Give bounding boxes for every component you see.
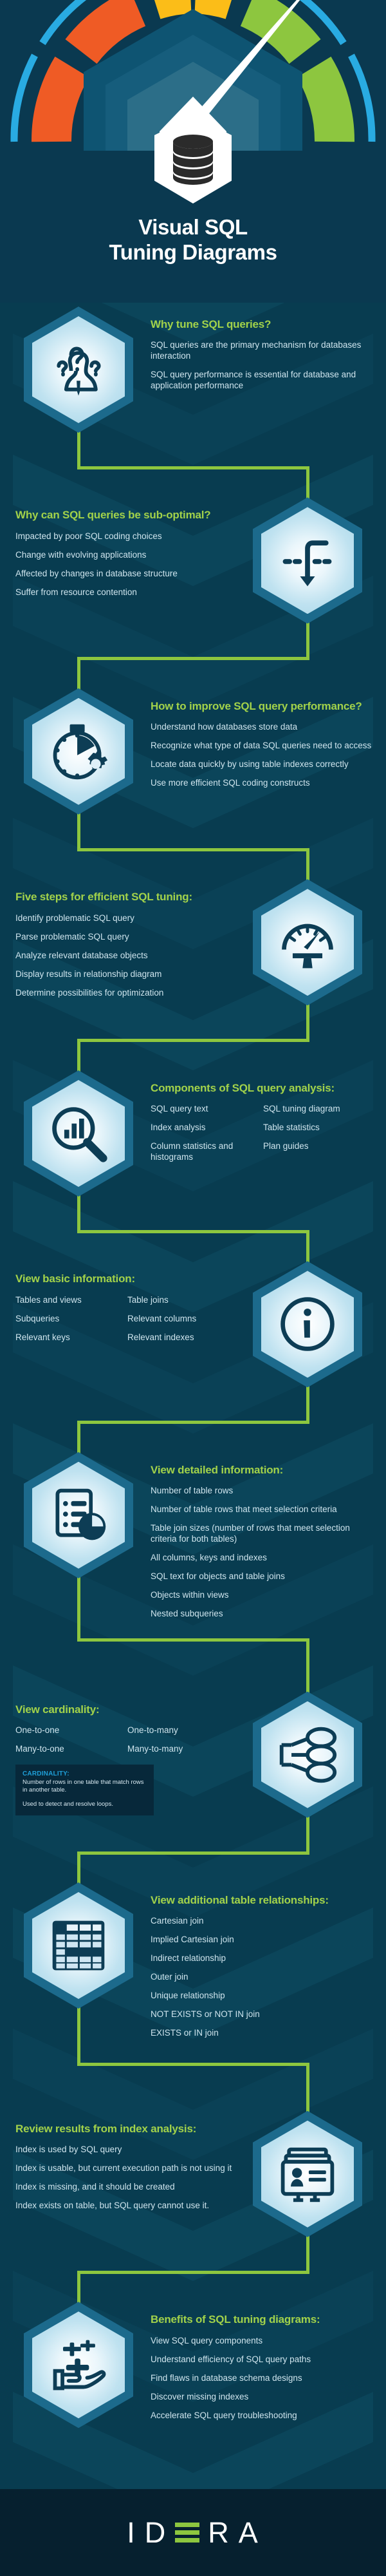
logo-letter-i: I (127, 2516, 136, 2550)
section-bullet-list: View SQL query componentsUnderstand effi… (151, 2335, 372, 2421)
flow-connector-segment (306, 2235, 309, 2273)
bullet-item: SQL query text (151, 1103, 259, 1114)
section-heading: View additional table relationships: (151, 1894, 372, 1907)
callout-title: CARDINALITY: (23, 1770, 147, 1777)
flow-connector-segment (77, 1851, 309, 1855)
bullet-item: SQL text for objects and table joins (151, 1571, 372, 1582)
bullet-item: Column statistics and histograms (151, 1141, 259, 1162)
section-heading: View basic information: (15, 1273, 235, 1285)
flow-connector-segment (77, 1230, 309, 1233)
bullet-item: Determine possibilities for optimization (15, 987, 235, 998)
section-text-container: Review results from index analysis:Index… (14, 2107, 235, 2219)
bullet-item: Analyze relevant database objects (15, 950, 235, 961)
section-five-steps: Five steps for efficient SQL tuning:Iden… (0, 875, 386, 1005)
checklist-pie-chart-icon (24, 1452, 133, 1578)
bullet-item: Indirect relationship (151, 1953, 372, 1964)
bullet-item: View SQL query components (151, 2335, 372, 2346)
bullet-item: Tables and views (15, 1294, 124, 1305)
section-text-container: View cardinality:One-to-oneOne-to-manyMa… (14, 1688, 235, 1815)
section-basic-info: View basic information:Tables and viewsT… (0, 1257, 386, 1387)
bullet-item: SQL tuning diagram (263, 1103, 372, 1114)
flow-connector-segment (77, 1421, 309, 1424)
bullet-item: SQL queries are the primary mechanism fo… (151, 339, 372, 361)
bullet-item: Impacted by poor SQL coding choices (15, 531, 235, 542)
info-circle-icon (253, 1261, 362, 1387)
section-icon-container (14, 1448, 143, 1578)
callout-body-1: Number of rows in one table that match r… (23, 1779, 147, 1795)
magnifier-bar-chart-icon (24, 1070, 133, 1197)
bullet-item: Accelerate SQL query troubleshooting (151, 2410, 372, 2421)
bullet-item: Locate data quickly by using table index… (151, 759, 372, 770)
flow-connector-segment (306, 1385, 309, 1423)
bullet-item: Affected by changes in database structur… (15, 568, 235, 579)
section-text-container: View basic information:Tables and viewsT… (14, 1257, 235, 1350)
bullet-item: Cartesian join (151, 1915, 372, 1926)
bullet-item: Outer join (151, 1971, 372, 1982)
section-heading: Why tune SQL queries? (151, 318, 372, 331)
bullet-item: Index is usable, but current execution p… (15, 2163, 235, 2173)
section-how-improve: How to improve SQL query performance?Und… (0, 685, 386, 815)
bullet-item: Objects within views (151, 1589, 372, 1600)
section-bullet-list: Tables and viewsTable joinsSubqueriesRel… (15, 1294, 235, 1350)
data-table-grid-icon (24, 1882, 133, 2009)
bullet-item: Relevant columns (127, 1313, 235, 1324)
section-icon-container (14, 685, 143, 815)
page-title: Visual SQL Tuning Diagrams (0, 215, 386, 265)
flow-connector-segment (306, 1003, 309, 1041)
section-text-container: Components of SQL query analysis:SQL que… (151, 1066, 372, 1170)
page-title-line1: Visual SQL (0, 215, 386, 240)
callout-body-2: Used to detect and resolve loops. (23, 1801, 147, 1808)
section-text-container: How to improve SQL query performance?Und… (151, 685, 372, 796)
bullet-item: All columns, keys and indexes (151, 1552, 372, 1563)
hand-plus-benefits-icon (24, 2302, 133, 2428)
flow-connector-segment (77, 466, 309, 469)
section-text-container: Why can SQL queries be sub-optimal?Impac… (14, 493, 235, 605)
section-heading: Five steps for efficient SQL tuning: (15, 891, 235, 904)
section-heading: View cardinality: (15, 1703, 235, 1716)
section-cardinality: View cardinality:One-to-oneOne-to-manyMa… (0, 1688, 386, 1818)
section-heading: Review results from index analysis: (15, 2123, 235, 2136)
bullet-item: Table join sizes (number of rows that me… (151, 1522, 372, 1544)
idera-logo: I D R A (127, 2516, 259, 2550)
confused-person-question-marks-icon (24, 307, 133, 433)
section-detailed-info: View detailed information:Number of tabl… (0, 1448, 386, 1627)
bullet-item: Number of table rows (151, 1485, 372, 1496)
section-why-tune: Why tune SQL queries?SQL queries are the… (0, 303, 386, 433)
section-text-container: Five steps for efficient SQL tuning:Iden… (14, 875, 235, 1005)
section-icon-container (243, 1688, 372, 1818)
bullet-item: Index exists on table, but SQL query can… (15, 2200, 235, 2211)
section-benefits: Benefits of SQL tuning diagrams:View SQL… (0, 2298, 386, 2428)
section-icon-container (14, 303, 143, 433)
bullet-item: Relevant keys (15, 1332, 124, 1343)
footer: I D R A (0, 2489, 386, 2576)
bullet-item: Discover missing indexes (151, 2391, 372, 2402)
bullet-item: Understand efficiency of SQL query paths (151, 2354, 372, 2365)
bullet-item: Display results in relationship diagram (15, 969, 235, 980)
section-bullet-list: SQL query textSQL tuning diagramIndex an… (151, 1103, 372, 1170)
section-heading: Why can SQL queries be sub-optimal? (15, 509, 235, 522)
flow-connector-segment (77, 1039, 309, 1042)
flow-connector-segment (77, 430, 80, 468)
bullet-item: One-to-one (15, 1725, 124, 1736)
section-text-container: View detailed information:Number of tabl… (151, 1448, 372, 1627)
bullet-item: Find flaws in database schema designs (151, 2372, 372, 2383)
flow-connector-segment (77, 1638, 309, 1642)
bullet-item: Understand how databases store data (151, 721, 372, 732)
section-sub-optimal: Why can SQL queries be sub-optimal?Impac… (0, 493, 386, 623)
bullet-item: Relevant indexes (127, 1332, 235, 1343)
section-icon-container (14, 1879, 143, 2009)
section-components: Components of SQL query analysis:SQL que… (0, 1066, 386, 1197)
logo-letter-r: R (208, 2516, 230, 2550)
bullet-item: EXISTS or IN join (151, 2027, 372, 2038)
bullet-item: Index is used by SQL query (15, 2144, 235, 2155)
section-bullet-list: Cartesian joinImplied Cartesian joinIndi… (151, 1915, 372, 2038)
section-bullet-list: Identify problematic SQL queryParse prob… (15, 913, 235, 998)
bullet-item: Identify problematic SQL query (15, 913, 235, 923)
bullet-item: One-to-many (127, 1725, 235, 1736)
section-bullet-list: Impacted by poor SQL coding choicesChang… (15, 531, 235, 598)
section-bullet-list: Index is used by SQL queryIndex is usabl… (15, 2144, 235, 2211)
stopwatch-gear-icon (24, 688, 133, 815)
bullet-item: Nested subqueries (151, 1608, 372, 1619)
section-icon-container (243, 2107, 372, 2237)
flow-connector-segment (306, 1638, 309, 1692)
id-card-index-icon (253, 2111, 362, 2237)
section-bullet-list: Understand how databases store dataRecog… (151, 721, 372, 788)
bullet-item: SQL query performance is essential for d… (151, 369, 372, 391)
section-icon-container (14, 2298, 143, 2428)
section-text-container: Benefits of SQL tuning diagrams:View SQL… (151, 2298, 372, 2428)
flow-connector-segment (77, 2271, 309, 2274)
cardinality-callout: CARDINALITY:Number of rows in one table … (15, 1765, 154, 1815)
section-heading: How to improve SQL query performance? (151, 700, 372, 713)
logo-letter-a: A (239, 2516, 259, 2550)
page-title-line2: Tuning Diagrams (0, 240, 386, 265)
section-index-analysis: Review results from index analysis:Index… (0, 2107, 386, 2237)
logo-letter-d: D (145, 2516, 167, 2550)
flow-connector-segment (306, 621, 309, 659)
bullet-item: Suffer from resource contention (15, 587, 235, 598)
bullet-item: Many-to-one (15, 1743, 124, 1754)
bullet-item: Subqueries (15, 1313, 124, 1324)
bullet-item: Index analysis (151, 1122, 259, 1133)
bullet-item: Implied Cartesian join (151, 1934, 372, 1945)
flow-connector-segment (77, 812, 80, 850)
relationship-tree-icon (253, 1692, 362, 1818)
section-heading: View detailed information: (151, 1464, 372, 1477)
bullet-item: Unique relationship (151, 1990, 372, 2001)
bullet-item: Table statistics (263, 1122, 372, 1133)
bullet-item: NOT EXISTS or NOT IN join (151, 2009, 372, 2020)
bullet-item: Recognize what type of data SQL queries … (151, 740, 372, 751)
section-table-relationships: View additional table relationships:Cart… (0, 1879, 386, 2046)
section-icon-container (243, 875, 372, 1005)
bullet-item: Parse problematic SQL query (15, 931, 235, 942)
bullet-item: Change with evolving applications (15, 549, 235, 560)
flow-connector-segment (306, 1815, 309, 1853)
section-bullet-list: SQL queries are the primary mechanism fo… (151, 339, 372, 391)
logo-equals-mark (175, 2523, 199, 2543)
section-heading: Components of SQL query analysis: (151, 1082, 372, 1095)
flow-arrow-dashed-icon (253, 497, 362, 623)
bullet-item: Plan guides (263, 1141, 372, 1162)
flow-connector-segment (77, 1194, 80, 1232)
bullet-item: Use more efficient SQL coding constructs (151, 777, 372, 788)
speedometer-gear-icon (253, 879, 362, 1005)
header: Visual SQL Tuning Diagrams (0, 0, 386, 303)
bullet-item: Many-to-many (127, 1743, 235, 1754)
flow-connector-segment (77, 848, 309, 851)
section-text-container: View additional table relationships:Cart… (151, 1879, 372, 2046)
bullet-item: Number of table rows that meet selection… (151, 1504, 372, 1515)
section-heading: Benefits of SQL tuning diagrams: (151, 2313, 372, 2326)
section-icon-container (243, 493, 372, 623)
section-bullet-list: One-to-oneOne-to-manyMany-to-oneMany-to-… (15, 1725, 235, 1762)
flow-connector-segment (77, 657, 309, 660)
flow-connector-segment (306, 2063, 309, 2112)
bullet-item: Index is missing, and it should be creat… (15, 2181, 235, 2192)
section-icon-container (14, 1066, 143, 1197)
flow-connector-segment (77, 2063, 309, 2066)
section-icon-container (243, 1257, 372, 1387)
section-text-container: Why tune SQL queries?SQL queries are the… (151, 303, 372, 399)
infographic-page: Visual SQL Tuning Diagrams Why tune SQL … (0, 0, 386, 2576)
section-bullet-list: Number of table rowsNumber of table rows… (151, 1485, 372, 1619)
bullet-item: Table joins (127, 1294, 235, 1305)
